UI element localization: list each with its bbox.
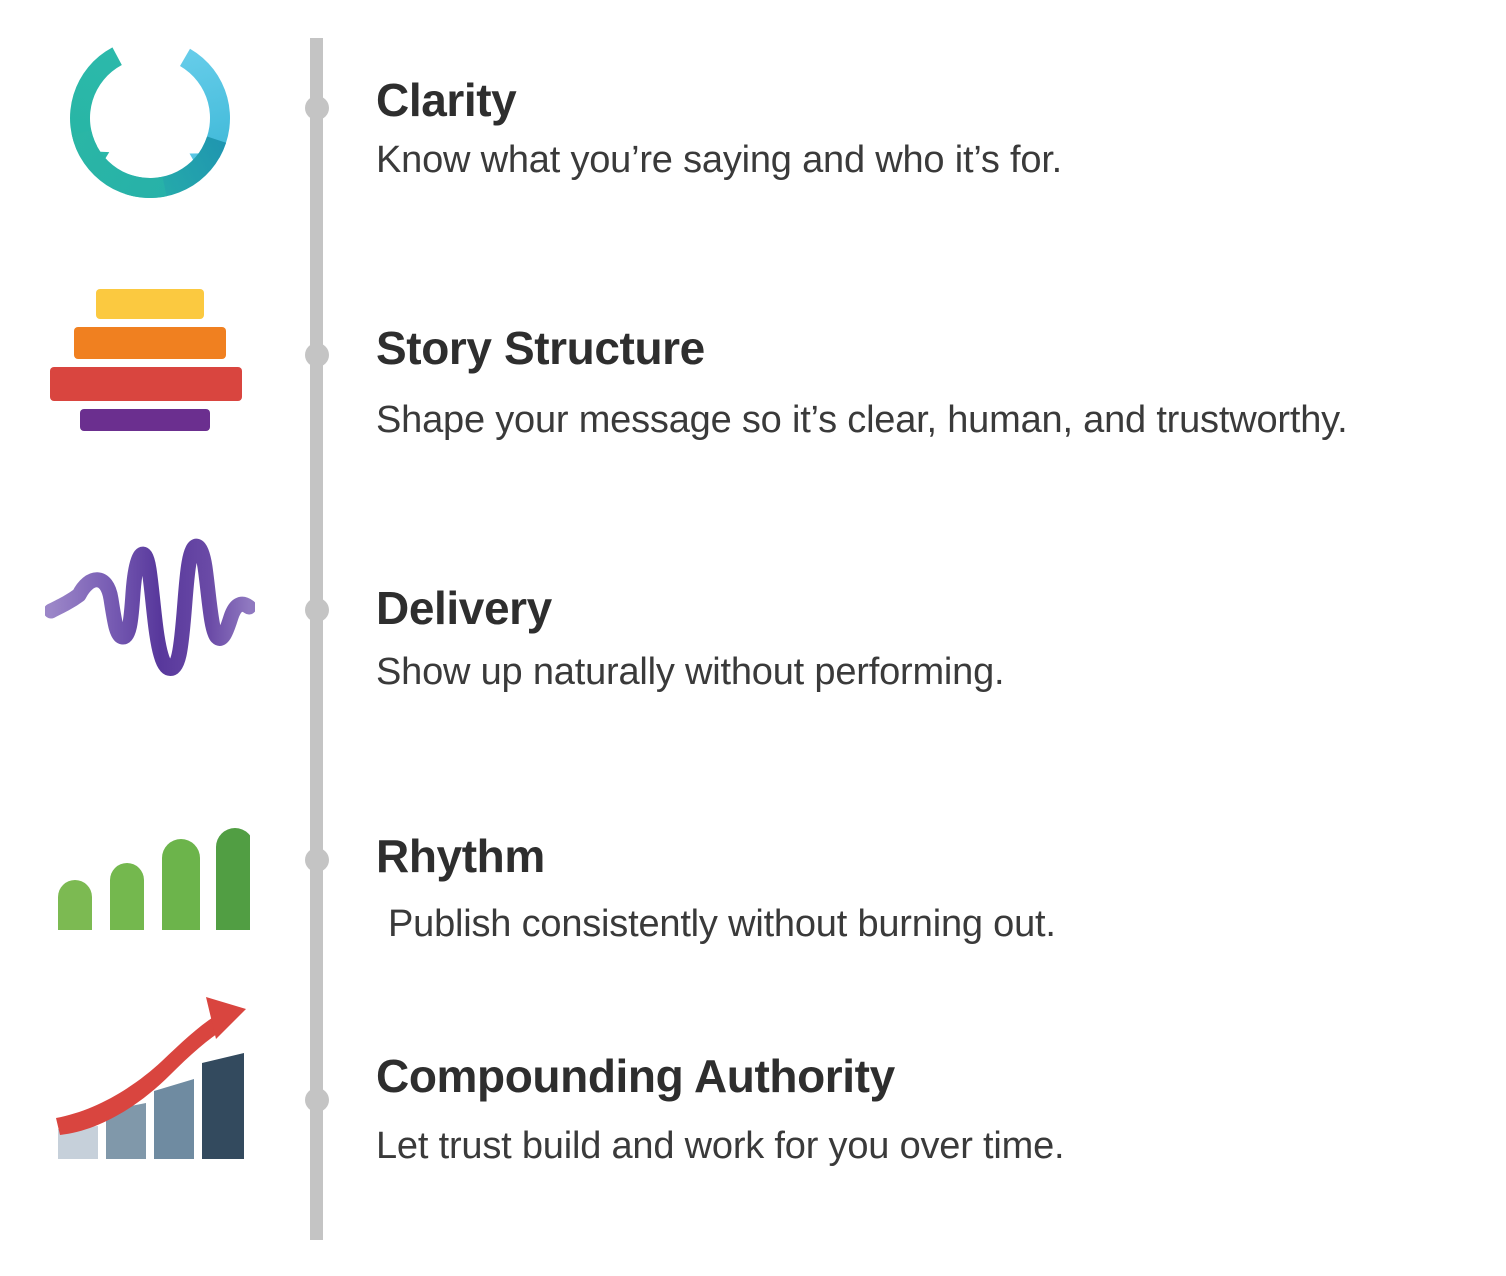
timeline-infographic: Clarity Know what you’re saying and who …: [0, 0, 1506, 1276]
ascending-bars-icon: [50, 825, 250, 935]
item-title-clarity: Clarity: [376, 76, 1496, 125]
stacked-bars-icon: [50, 281, 250, 431]
timeline-item-compounding-authority: Compounding Authority Let trust build an…: [0, 1000, 1506, 1276]
clarity-text-cell: Clarity Know what you’re saying and who …: [376, 76, 1496, 182]
cycle-circle-icon: [62, 30, 238, 206]
timeline-item-rhythm: Rhythm Publish consistently without burn…: [0, 750, 1506, 1000]
clarity-icon-cell: [20, 28, 280, 208]
item-description-rhythm: Publish consistently without burning out…: [376, 903, 1496, 947]
story-structure-text-cell: Story Structure Shape your message so it…: [376, 324, 1496, 442]
timeline-item-clarity: Clarity Know what you’re saying and who …: [0, 0, 1506, 250]
waveform-icon: [45, 515, 255, 695]
timeline-item-story-structure: Story Structure Shape your message so it…: [0, 250, 1506, 500]
compounding-authority-text-cell: Compounding Authority Let trust build an…: [376, 1052, 1496, 1168]
story-structure-icon-cell: [20, 276, 280, 436]
item-description-clarity: Know what you’re saying and who it’s for…: [376, 139, 1496, 183]
compounding-authority-icon-cell: [20, 984, 280, 1174]
delivery-text-cell: Delivery Show up naturally without perfo…: [376, 584, 1496, 694]
item-description-compounding-authority: Let trust build and work for you over ti…: [376, 1125, 1496, 1169]
item-title-story-structure: Story Structure: [376, 324, 1496, 373]
item-title-compounding-authority: Compounding Authority: [376, 1052, 1496, 1101]
item-description-delivery: Show up naturally without performing.: [376, 651, 1496, 695]
item-title-rhythm: Rhythm: [376, 832, 1496, 881]
timeline-item-delivery: Delivery Show up naturally without perfo…: [0, 500, 1506, 750]
item-description-story-structure: Shape your message so it’s clear, human,…: [376, 399, 1496, 443]
item-title-delivery: Delivery: [376, 584, 1496, 633]
rhythm-icon-cell: [20, 800, 280, 960]
delivery-icon-cell: [20, 510, 280, 700]
rhythm-text-cell: Rhythm Publish consistently without burn…: [376, 832, 1496, 946]
growth-arrow-chart-icon: [50, 989, 250, 1169]
